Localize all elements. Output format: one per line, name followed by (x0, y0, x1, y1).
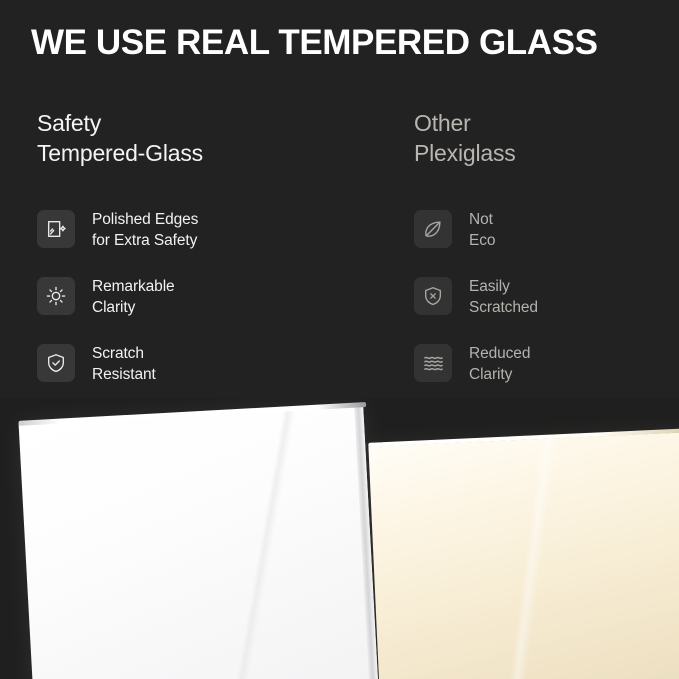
feature-label: Not Eco (469, 208, 495, 251)
feature-list: Polished Edges for Extra Safety Remarkab… (37, 208, 387, 409)
feature-item-easily-scratched: Easily Scratched (414, 275, 679, 319)
feature-label-line2: Scratched (469, 297, 538, 318)
column-other-plexiglass: Other Plexiglass Not Eco (414, 108, 679, 168)
shield-check-icon (37, 344, 75, 382)
feature-label: Polished Edges for Extra Safety (92, 208, 198, 251)
column-heading-line2: Tempered-Glass (37, 138, 387, 168)
feature-label-line1: Polished Edges (92, 211, 198, 228)
column-heading: Other Plexiglass (414, 108, 679, 168)
feature-label: Scratch Resistant (92, 342, 156, 385)
plexiglass-panel (368, 430, 679, 679)
tempered-glass-panel (19, 404, 380, 679)
feature-label-line2: Eco (469, 230, 495, 251)
feature-item-scratch-resistant: Scratch Resistant (37, 342, 387, 386)
column-heading-line1: Other (414, 110, 471, 136)
feature-label: Easily Scratched (469, 275, 538, 318)
feature-item-not-eco: Not Eco (414, 208, 679, 252)
column-heading-line2: Plexiglass (414, 138, 679, 168)
feature-label-line1: Reduced (469, 345, 530, 362)
feature-label-line1: Scratch (92, 345, 144, 362)
shield-x-icon (414, 277, 452, 315)
feature-label: Reduced Clarity (469, 342, 530, 385)
feature-label-line2: Clarity (92, 297, 175, 318)
column-heading: Safety Tempered-Glass (37, 108, 387, 168)
leaf-crossed-out-icon (414, 210, 452, 248)
feature-label-line2: for Extra Safety (92, 230, 198, 251)
feature-label: Remarkable Clarity (92, 275, 175, 318)
feature-item-polished-edges: Polished Edges for Extra Safety (37, 208, 387, 252)
feature-item-remarkable-clarity: Remarkable Clarity (37, 275, 387, 319)
polished-edges-icon (37, 210, 75, 248)
feature-label-line2: Clarity (469, 364, 530, 385)
column-heading-line1: Safety (37, 110, 101, 136)
product-photo (0, 398, 679, 679)
feature-label-line2: Resistant (92, 364, 156, 385)
wavy-lines-icon (414, 344, 452, 382)
feature-label-line1: Not (469, 211, 493, 228)
brightness-sun-icon (37, 277, 75, 315)
feature-list: Not Eco Easily Scratched (414, 208, 679, 409)
feature-label-line1: Easily (469, 278, 510, 295)
feature-item-reduced-clarity: Reduced Clarity (414, 342, 679, 386)
comparison-banner: WE USE REAL TEMPERED GLASS Safety Temper… (0, 0, 679, 679)
column-safety-tempered-glass: Safety Tempered-Glass Polished Edges for… (37, 108, 387, 168)
page-title: WE USE REAL TEMPERED GLASS (31, 22, 656, 64)
feature-label-line1: Remarkable (92, 278, 175, 295)
